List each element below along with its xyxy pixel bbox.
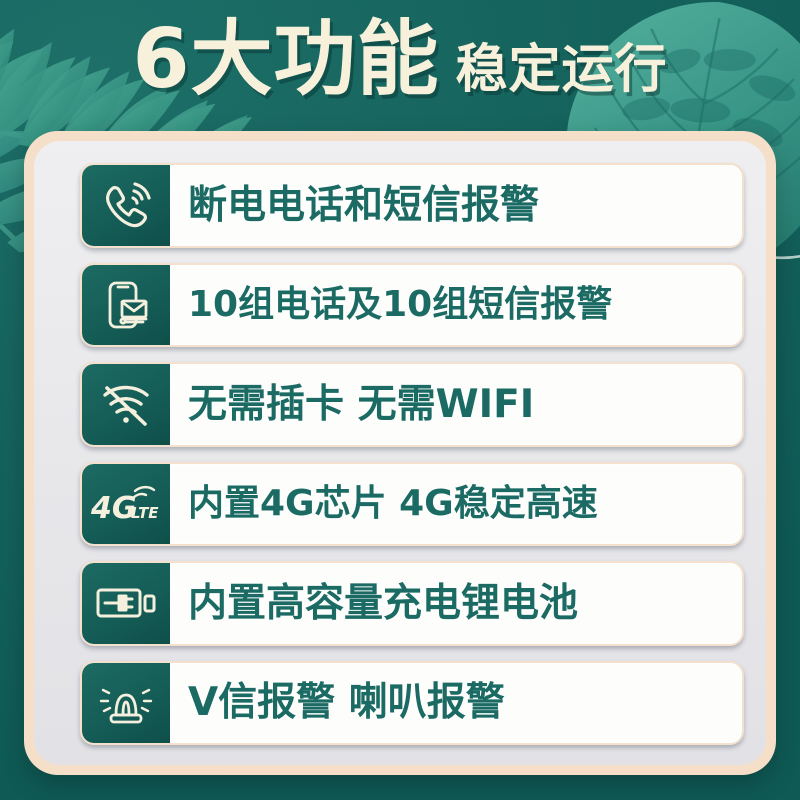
feature-row[interactable]: 断电电话和短信报警 <box>80 163 744 248</box>
feature-row[interactable]: 内置高容量充电锂电池 <box>80 561 744 646</box>
battery-charge-icon <box>82 563 170 644</box>
feature-row[interactable]: 无需插卡 无需WIFI <box>80 362 744 447</box>
title-wrapper: 6大功能 稳定运行 <box>132 19 667 101</box>
svg-text:4G: 4G <box>90 491 137 526</box>
feature-row[interactable]: V信报警 喇叭报警 <box>80 661 744 746</box>
feature-row[interactable]: 4G LTE 内置4G芯片 4G稳定高速 <box>80 462 744 547</box>
feature-card: 断电电话和短信报警 10组电话及10组短信报警 <box>24 131 776 775</box>
poster-root: 6大功能 稳定运行 断电电话和短信报警 <box>0 0 800 800</box>
feature-label: 断电电话和短信报警 <box>170 165 742 246</box>
svg-text:LTE: LTE <box>131 504 159 522</box>
feature-label: V信报警 喇叭报警 <box>170 663 742 744</box>
feature-label: 10组电话及10组短信报警 <box>170 265 742 346</box>
phone-sms-icon <box>82 265 170 346</box>
feature-list: 断电电话和短信报警 10组电话及10组短信报警 <box>34 141 766 765</box>
wifi-off-icon <box>82 364 170 445</box>
feature-label: 无需插卡 无需WIFI <box>170 364 742 445</box>
page-subtitle: 稳定运行 <box>456 44 668 96</box>
page-title: 6大功能 <box>132 19 439 101</box>
four-g-lte-icon: 4G LTE <box>82 464 170 545</box>
poster-header: 6大功能 稳定运行 <box>0 0 800 131</box>
alarm-siren-icon <box>82 663 170 744</box>
feature-row[interactable]: 10组电话及10组短信报警 <box>80 263 744 348</box>
phone-call-icon <box>82 165 170 246</box>
feature-label: 内置高容量充电锂电池 <box>170 563 742 644</box>
feature-label: 内置4G芯片 4G稳定高速 <box>170 464 742 545</box>
